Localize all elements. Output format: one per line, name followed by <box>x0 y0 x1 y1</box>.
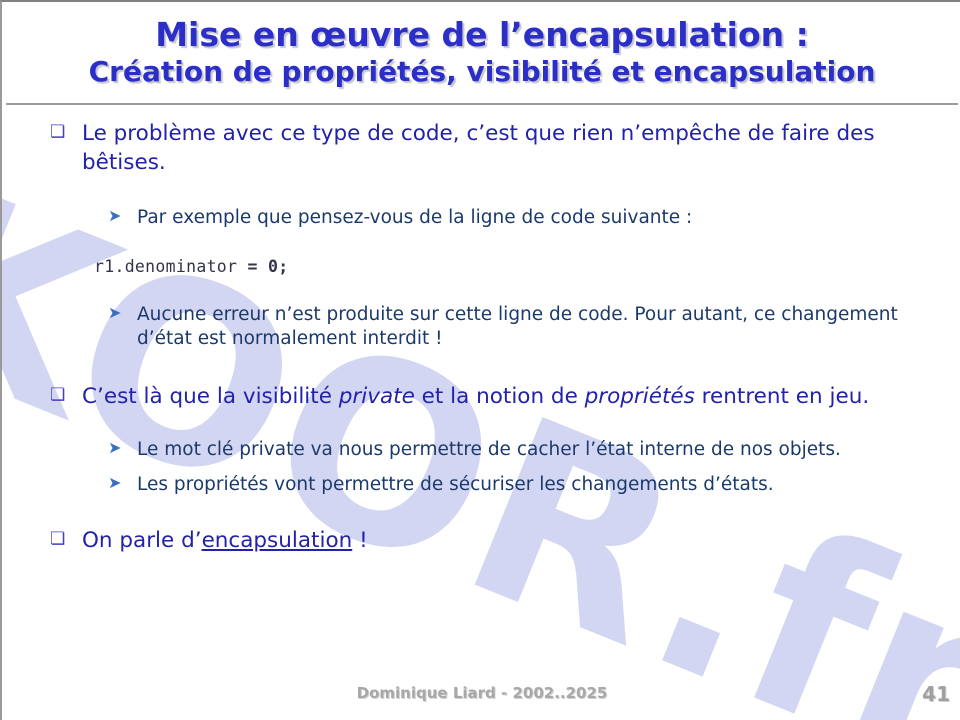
bullet-level2-example-text: Par exemple que pensez-vous de la ligne … <box>137 207 692 228</box>
slide: KOOR.fr Mise en œuvre de l’encapsulation… <box>0 0 960 720</box>
page-number: 41 <box>922 682 950 706</box>
emphasis-proprietes: propriétés <box>585 384 695 409</box>
bullet-level2-example: ➤ Par exemple que pensez-vous de la lign… <box>106 206 902 230</box>
arrow-bullet-icon: ➤ <box>108 438 121 459</box>
bullet-level1-private-part3: rentrent en jeu. <box>695 384 869 409</box>
bullet-level2-keyword-text: Le mot clé private va nous permettre de … <box>137 439 841 460</box>
code-snippet: r1.denominator = 0; <box>94 257 960 276</box>
underlined-encapsulation: encapsulation <box>202 528 353 553</box>
bullet-level2-noerror: ➤ Aucune erreur n’est produite sur cette… <box>106 303 902 351</box>
arrow-bullet-icon: ➤ <box>108 473 121 494</box>
bullet-level1-encapsulation: ❏ On parle d’encapsulation ! <box>48 527 908 556</box>
bullet-level2-properties: ➤ Les propriétés vont permettre de sécur… <box>106 473 902 497</box>
spacer <box>2 351 960 383</box>
title-divider <box>6 103 958 105</box>
spacer <box>2 497 960 527</box>
bullet-level1-encapsulation-part1: On parle d’ <box>82 528 202 553</box>
bullet-level1-encapsulation-part2: ! <box>352 528 367 553</box>
bullet-level1-problem-text: Le problème avec ce type de code, c’est … <box>82 121 875 175</box>
slide-body: ❏ Le problème avec ce type de code, c’es… <box>2 120 960 556</box>
bullet-level1-private-part1: C’est là que la visibilité <box>82 384 339 409</box>
title-subtitle-line: Création de propriétés, visibilité et en… <box>2 55 960 88</box>
arrow-bullet-icon: ➤ <box>108 206 121 227</box>
bullet-level1-problem: ❏ Le problème avec ce type de code, c’es… <box>48 120 908 177</box>
spacer <box>2 276 960 303</box>
bullet-level2-properties-text: Les propriétés vont permettre de sécuris… <box>137 474 774 495</box>
square-bullet-icon: ❏ <box>50 384 65 407</box>
square-bullet-icon: ❏ <box>50 528 65 551</box>
title-main-line: Mise en œuvre de l’encapsulation : <box>2 16 960 55</box>
slide-title: Mise en œuvre de l’encapsulation : Créat… <box>2 16 960 88</box>
emphasis-private: private <box>339 384 415 409</box>
code-plain-part: r1.denominator <box>94 257 248 276</box>
bullet-level2-keyword: ➤ Le mot clé private va nous permettre d… <box>106 438 902 462</box>
arrow-bullet-icon: ➤ <box>108 303 121 324</box>
code-bold-part: = 0; <box>248 257 289 276</box>
slide-footer: Dominique Liard - 2002..2025 41 <box>2 684 960 710</box>
square-bullet-icon: ❏ <box>50 121 65 144</box>
spacer <box>2 462 960 473</box>
bullet-level1-private: ❏ C’est là que la visibilité private et … <box>48 383 908 412</box>
bullet-level2-noerror-text: Aucune erreur n’est produite sur cette l… <box>137 304 898 349</box>
footer-credit: Dominique Liard - 2002..2025 <box>2 684 960 702</box>
spacer <box>2 177 960 206</box>
spacer <box>2 230 960 257</box>
spacer <box>2 412 960 438</box>
bullet-level1-private-part2: et la notion de <box>415 384 585 409</box>
